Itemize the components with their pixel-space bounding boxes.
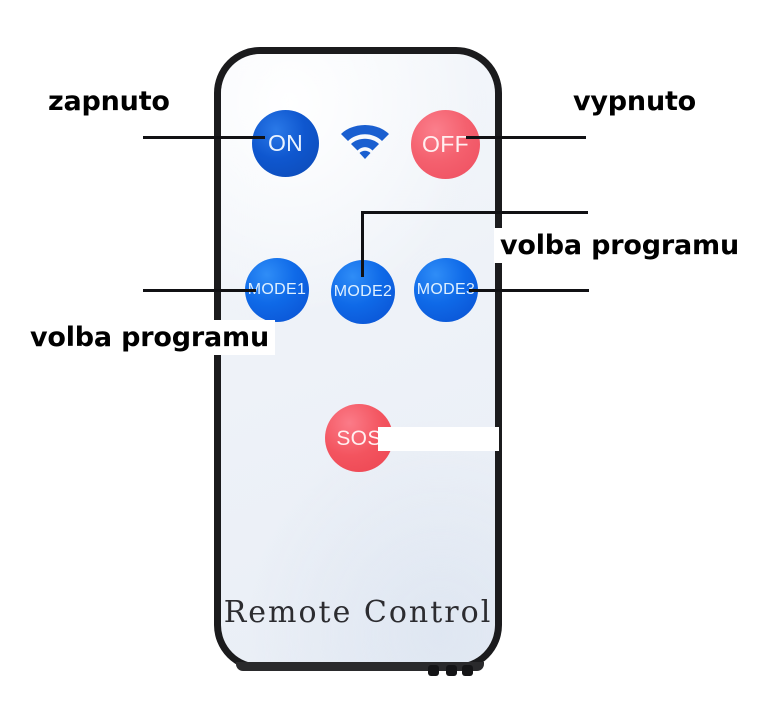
on-button[interactable]: ON	[252, 110, 319, 177]
callout-label-zapnuto: zapnuto	[42, 84, 176, 119]
mode1-button-label: MODE1	[248, 282, 306, 298]
mode2-button-label: MODE2	[334, 284, 392, 300]
callout-label-volba-programu-right: volba programu	[494, 228, 745, 263]
leader-line-mode3	[469, 289, 589, 292]
callout-label-vypnuto: vypnuto	[567, 84, 702, 119]
sos-button-label: SOS	[336, 428, 381, 449]
leader-line-volba-right-horizontal	[361, 211, 588, 214]
off-button[interactable]: OFF	[411, 110, 480, 179]
remote-base-bump	[428, 665, 439, 676]
leader-line-volba-left	[143, 289, 256, 292]
leader-line-zapnuto	[143, 136, 265, 139]
mode3-button-label: MODE3	[417, 282, 475, 298]
leader-line-vypnuto	[466, 136, 586, 139]
device-brand-text: Remote Control	[214, 595, 502, 630]
wifi-icon	[338, 120, 392, 164]
leader-line-volba-right-vertical	[361, 211, 364, 277]
remote-control-illustration: ON OFF MODE1 MODE2 MODE3 SOS Remote Cont…	[0, 0, 761, 717]
callout-label-volba-programu-left: volba programu	[24, 320, 275, 355]
remote-base-bump	[462, 665, 473, 676]
white-mask-overlay	[378, 427, 499, 451]
on-button-label: ON	[268, 132, 303, 155]
off-button-label: OFF	[422, 133, 469, 156]
remote-base-bump	[446, 665, 457, 676]
